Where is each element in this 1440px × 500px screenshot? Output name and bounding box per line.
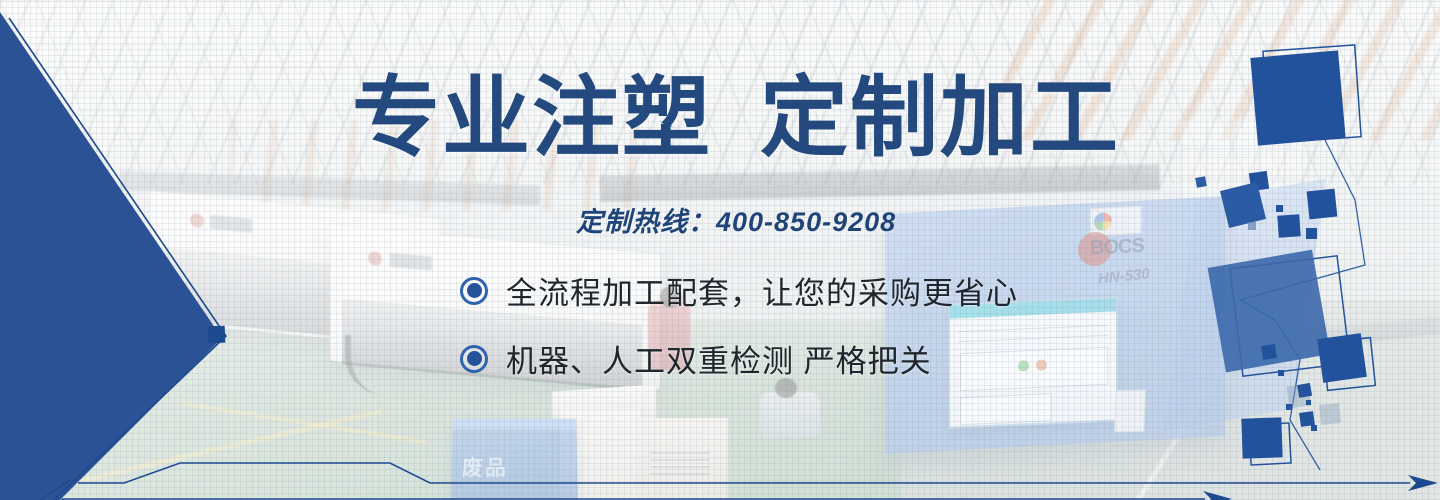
hotline-text: 定制热线：400-850-9208: [576, 200, 896, 239]
feature-text-2: 机器、人工双重检测 严格把关: [506, 336, 932, 381]
headline-part-2: 定制加工: [760, 68, 1120, 167]
headline-part-1: 专业注塑: [352, 68, 712, 167]
radio-bullet-icon: [460, 345, 488, 373]
feature-text-1: 全流程加工配套，让您的采购更省心: [506, 268, 1018, 313]
promo-banner: BOCS HN-530 废品: [0, 0, 1440, 500]
feature-item-1: 全流程加工配套，让您的采购更省心: [460, 268, 1018, 313]
page-title: 专业注塑定制加工: [352, 74, 1120, 162]
banner-content: 专业注塑定制加工 定制热线：400-850-9208 全流程加工配套，让您的采购…: [0, 0, 1440, 500]
radio-bullet-icon: [460, 277, 488, 305]
feature-item-2: 机器、人工双重检测 严格把关: [460, 336, 932, 381]
